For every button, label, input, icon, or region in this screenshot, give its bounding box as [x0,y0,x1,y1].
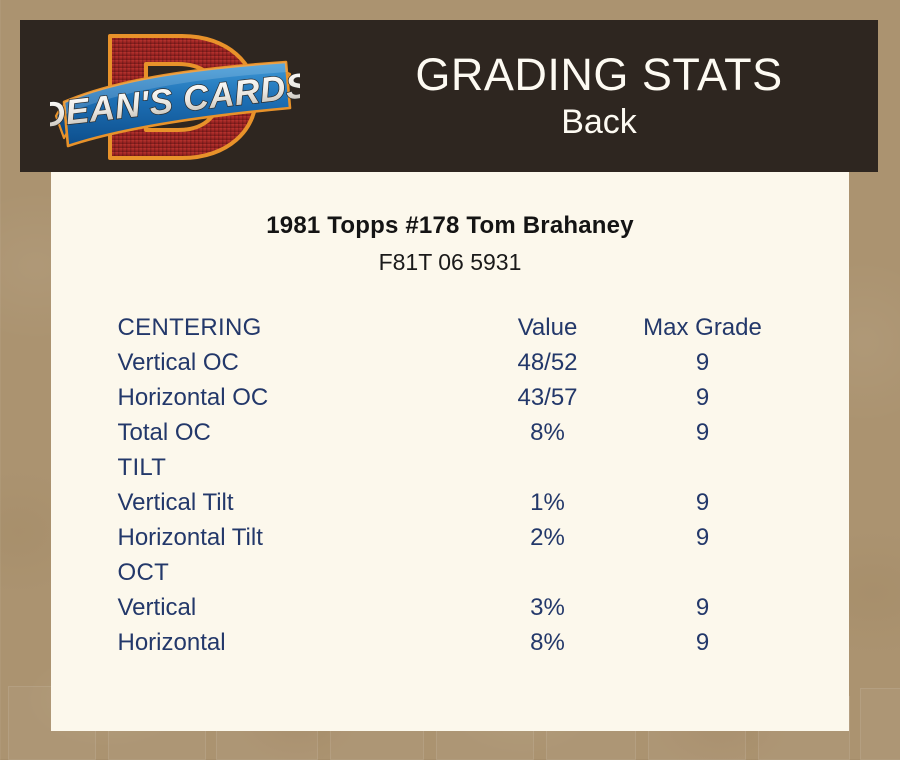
row-label: Vertical OC [118,345,473,380]
page-title: GRADING STATS [415,50,782,100]
section-heading-tilt: TILT [118,450,473,485]
row-grade: 9 [623,485,783,520]
table-header-row: CENTERING Value Max Grade [118,310,783,345]
row-grade: 9 [623,590,783,625]
section-spacer [473,450,623,485]
table-row: Horizontal Tilt 2% 9 [118,520,783,555]
row-label: Horizontal Tilt [118,520,473,555]
row-label: Horizontal OC [118,380,473,415]
card-title: 1981 Topps #178 Tom Brahaney [51,212,849,240]
table-row: Vertical OC 48/52 9 [118,345,783,380]
row-value: 1% [473,485,623,520]
deans-cards-logo[interactable]: DEAN'S CARDS [50,24,300,170]
logo-svg: DEAN'S CARDS [50,24,300,170]
row-grade: 9 [623,520,783,555]
section-spacer [623,555,783,590]
header-bar: DEAN'S CARDS GRADING STATS Back [20,20,878,172]
row-label: Total OC [118,415,473,450]
table-row: Horizontal OC 43/57 9 [118,380,783,415]
row-value: 43/57 [473,380,623,415]
card-serial: F81T 06 5931 [51,249,849,276]
table-row: Horizontal 8% 9 [118,625,783,660]
row-grade: 9 [623,415,783,450]
row-grade: 9 [623,625,783,660]
section-row-oct: OCT [118,555,783,590]
row-value: 2% [473,520,623,555]
column-header-max-grade: Max Grade [623,310,783,345]
section-spacer [473,555,623,590]
section-row-tilt: TILT [118,450,783,485]
column-header-value: Value [473,310,623,345]
content-panel: 1981 Topps #178 Tom Brahaney F81T 06 593… [51,172,849,731]
section-heading-centering: CENTERING [118,310,473,345]
row-label: Vertical [118,590,473,625]
row-grade: 9 [623,345,783,380]
grading-stats-table: CENTERING Value Max Grade Vertical OC 48… [118,310,783,660]
row-value: 48/52 [473,345,623,380]
row-grade: 9 [623,380,783,415]
section-spacer [623,450,783,485]
section-heading-oct: OCT [118,555,473,590]
row-label: Horizontal [118,625,473,660]
background-card-thumb [860,688,900,760]
header-title-group: GRADING STATS Back [320,20,878,172]
row-value: 8% [473,415,623,450]
row-label: Vertical Tilt [118,485,473,520]
row-value: 3% [473,590,623,625]
row-value: 8% [473,625,623,660]
table-row: Vertical Tilt 1% 9 [118,485,783,520]
page-subtitle: Back [561,102,637,142]
table-row: Vertical 3% 9 [118,590,783,625]
stats-table-body: CENTERING Value Max Grade Vertical OC 48… [118,310,783,660]
table-row: Total OC 8% 9 [118,415,783,450]
